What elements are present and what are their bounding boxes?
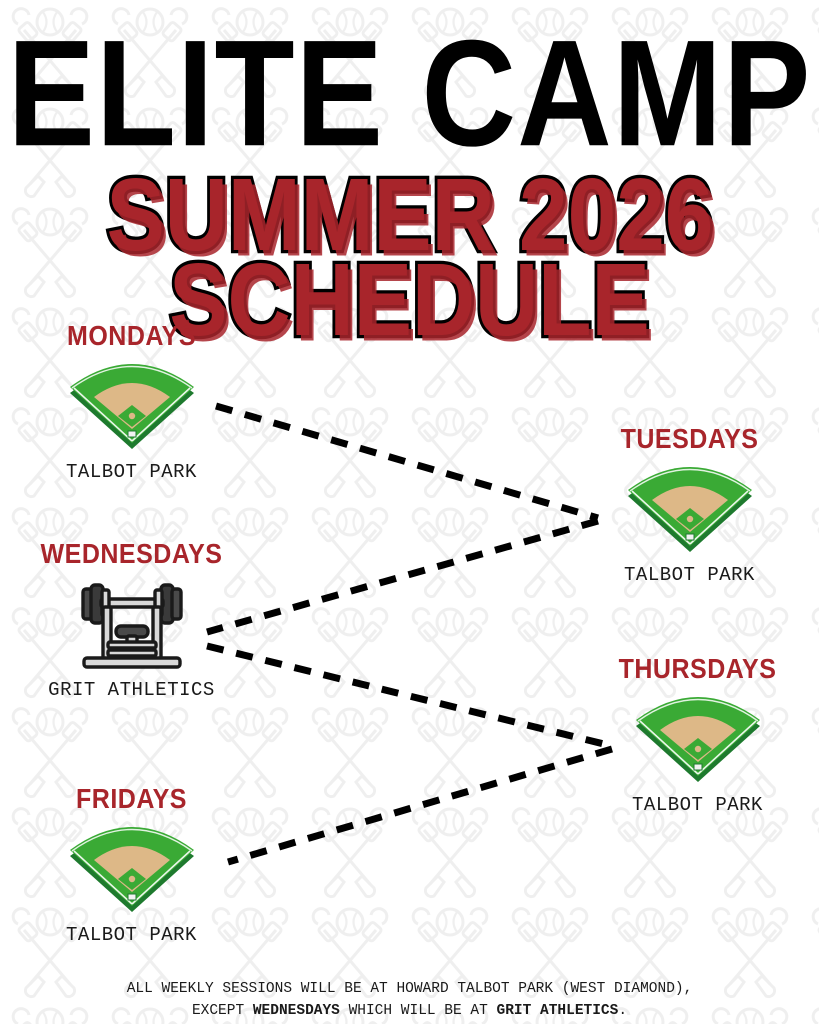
day-block-thursdays: THURSDAYS TALBOT PARK xyxy=(580,655,815,816)
day-block-mondays: MONDAYS TALBOT PAR xyxy=(14,322,249,483)
day-label-fridays: FRIDAYS xyxy=(14,783,249,815)
day-venue-thursdays: TALBOT PARK xyxy=(580,794,815,816)
subtitle-year-container: SUMMER 2026 xyxy=(0,163,819,241)
gym-bench-press-icon xyxy=(72,579,192,671)
footer-line-2-middle: WHICH WILL BE AT xyxy=(340,1003,497,1019)
day-block-fridays: FRIDAYS TALBOT PARK xyxy=(14,785,249,946)
day-venue-mondays: TALBOT PARK xyxy=(14,461,249,483)
footer-line-2: EXCEPT WEDNESDAYS WHICH WILL BE AT GRIT … xyxy=(0,1000,819,1022)
day-block-wednesdays: WEDNESDAYS xyxy=(14,540,249,701)
subtitle-schedule-container: SCHEDULE xyxy=(0,248,819,326)
footer-note: ALL WEEKLY SESSIONS WILL BE AT HOWARD TA… xyxy=(0,978,819,1023)
baseball-field-icon xyxy=(628,694,768,786)
baseball-field-icon xyxy=(62,824,202,916)
schedule-poster: ELITE CAMP SUMMER 2026 SCHEDULE MONDAYS xyxy=(0,0,819,1024)
baseball-field-icon xyxy=(62,361,202,453)
day-label-tuesdays: TUESDAYS xyxy=(572,423,807,455)
day-venue-tuesdays: TALBOT PARK xyxy=(572,564,807,586)
baseball-field-icon xyxy=(620,464,760,556)
page-title: ELITE CAMP xyxy=(0,18,819,169)
footer-line-2-bold-grit: GRIT ATHLETICS xyxy=(497,1003,619,1019)
day-label-thursdays: THURSDAYS xyxy=(580,653,815,685)
day-venue-wednesdays: GRIT ATHLETICS xyxy=(14,679,249,701)
day-block-tuesdays: TUESDAYS TALBOT PARK xyxy=(572,425,807,586)
footer-line-1: ALL WEEKLY SESSIONS WILL BE AT HOWARD TA… xyxy=(0,978,819,1000)
footer-line-2-suffix: . xyxy=(618,1003,627,1019)
day-label-mondays: MONDAYS xyxy=(14,320,249,352)
day-venue-fridays: TALBOT PARK xyxy=(14,924,249,946)
footer-line-2-bold-wednesdays: WEDNESDAYS xyxy=(253,1003,340,1019)
footer-line-2-prefix: EXCEPT xyxy=(192,1003,253,1019)
day-label-wednesdays: WEDNESDAYS xyxy=(14,538,249,570)
